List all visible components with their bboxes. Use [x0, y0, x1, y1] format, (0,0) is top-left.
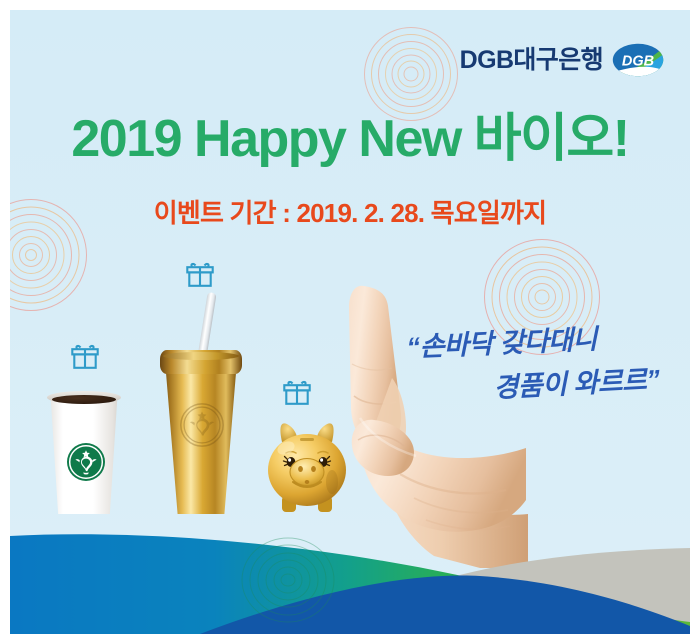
page-title: 2019 Happy New 바이오!: [10, 113, 690, 165]
gift-box-icon-tumbler: [185, 260, 215, 288]
cup-coffee-surface: [52, 395, 116, 404]
tumbler-lid: [160, 350, 242, 374]
promo-banner: DGB 대구은행 2019 Happy New 바이오 이벤트 배너: [0, 0, 700, 644]
starbucks-siren-logo-icon: [66, 442, 106, 482]
dgb-wordmark: DGB대구은행: [460, 48, 603, 73]
event-period-text: 이벤트 기간 : 2019. 2. 28. 목요일까지: [10, 200, 690, 226]
gift-box-icon-cup: [70, 342, 100, 370]
svg-text:DGB: DGB: [622, 54, 654, 70]
decor-rings-top-center: [365, 28, 457, 120]
banner-alt-text: DGB 대구은행 2019 Happy New 바이오 이벤트 배너: [0, 0, 1, 1]
prize-starbucks-gold-tumbler: [162, 340, 242, 520]
tumbler-straw: [198, 292, 217, 355]
dgb-logo[interactable]: DGB대구은행 DGB: [460, 43, 664, 77]
starbucks-siren-embossed-icon: [179, 402, 225, 448]
banner-stage: DGB대구은행 DGB: [10, 10, 690, 634]
gift-box-icon-piggy: [282, 378, 312, 406]
prize-starbucks-paper-cup: [46, 396, 126, 518]
dgb-oval-logo-icon: DGB: [612, 43, 664, 77]
bottom-wave-graphic: [10, 514, 690, 634]
